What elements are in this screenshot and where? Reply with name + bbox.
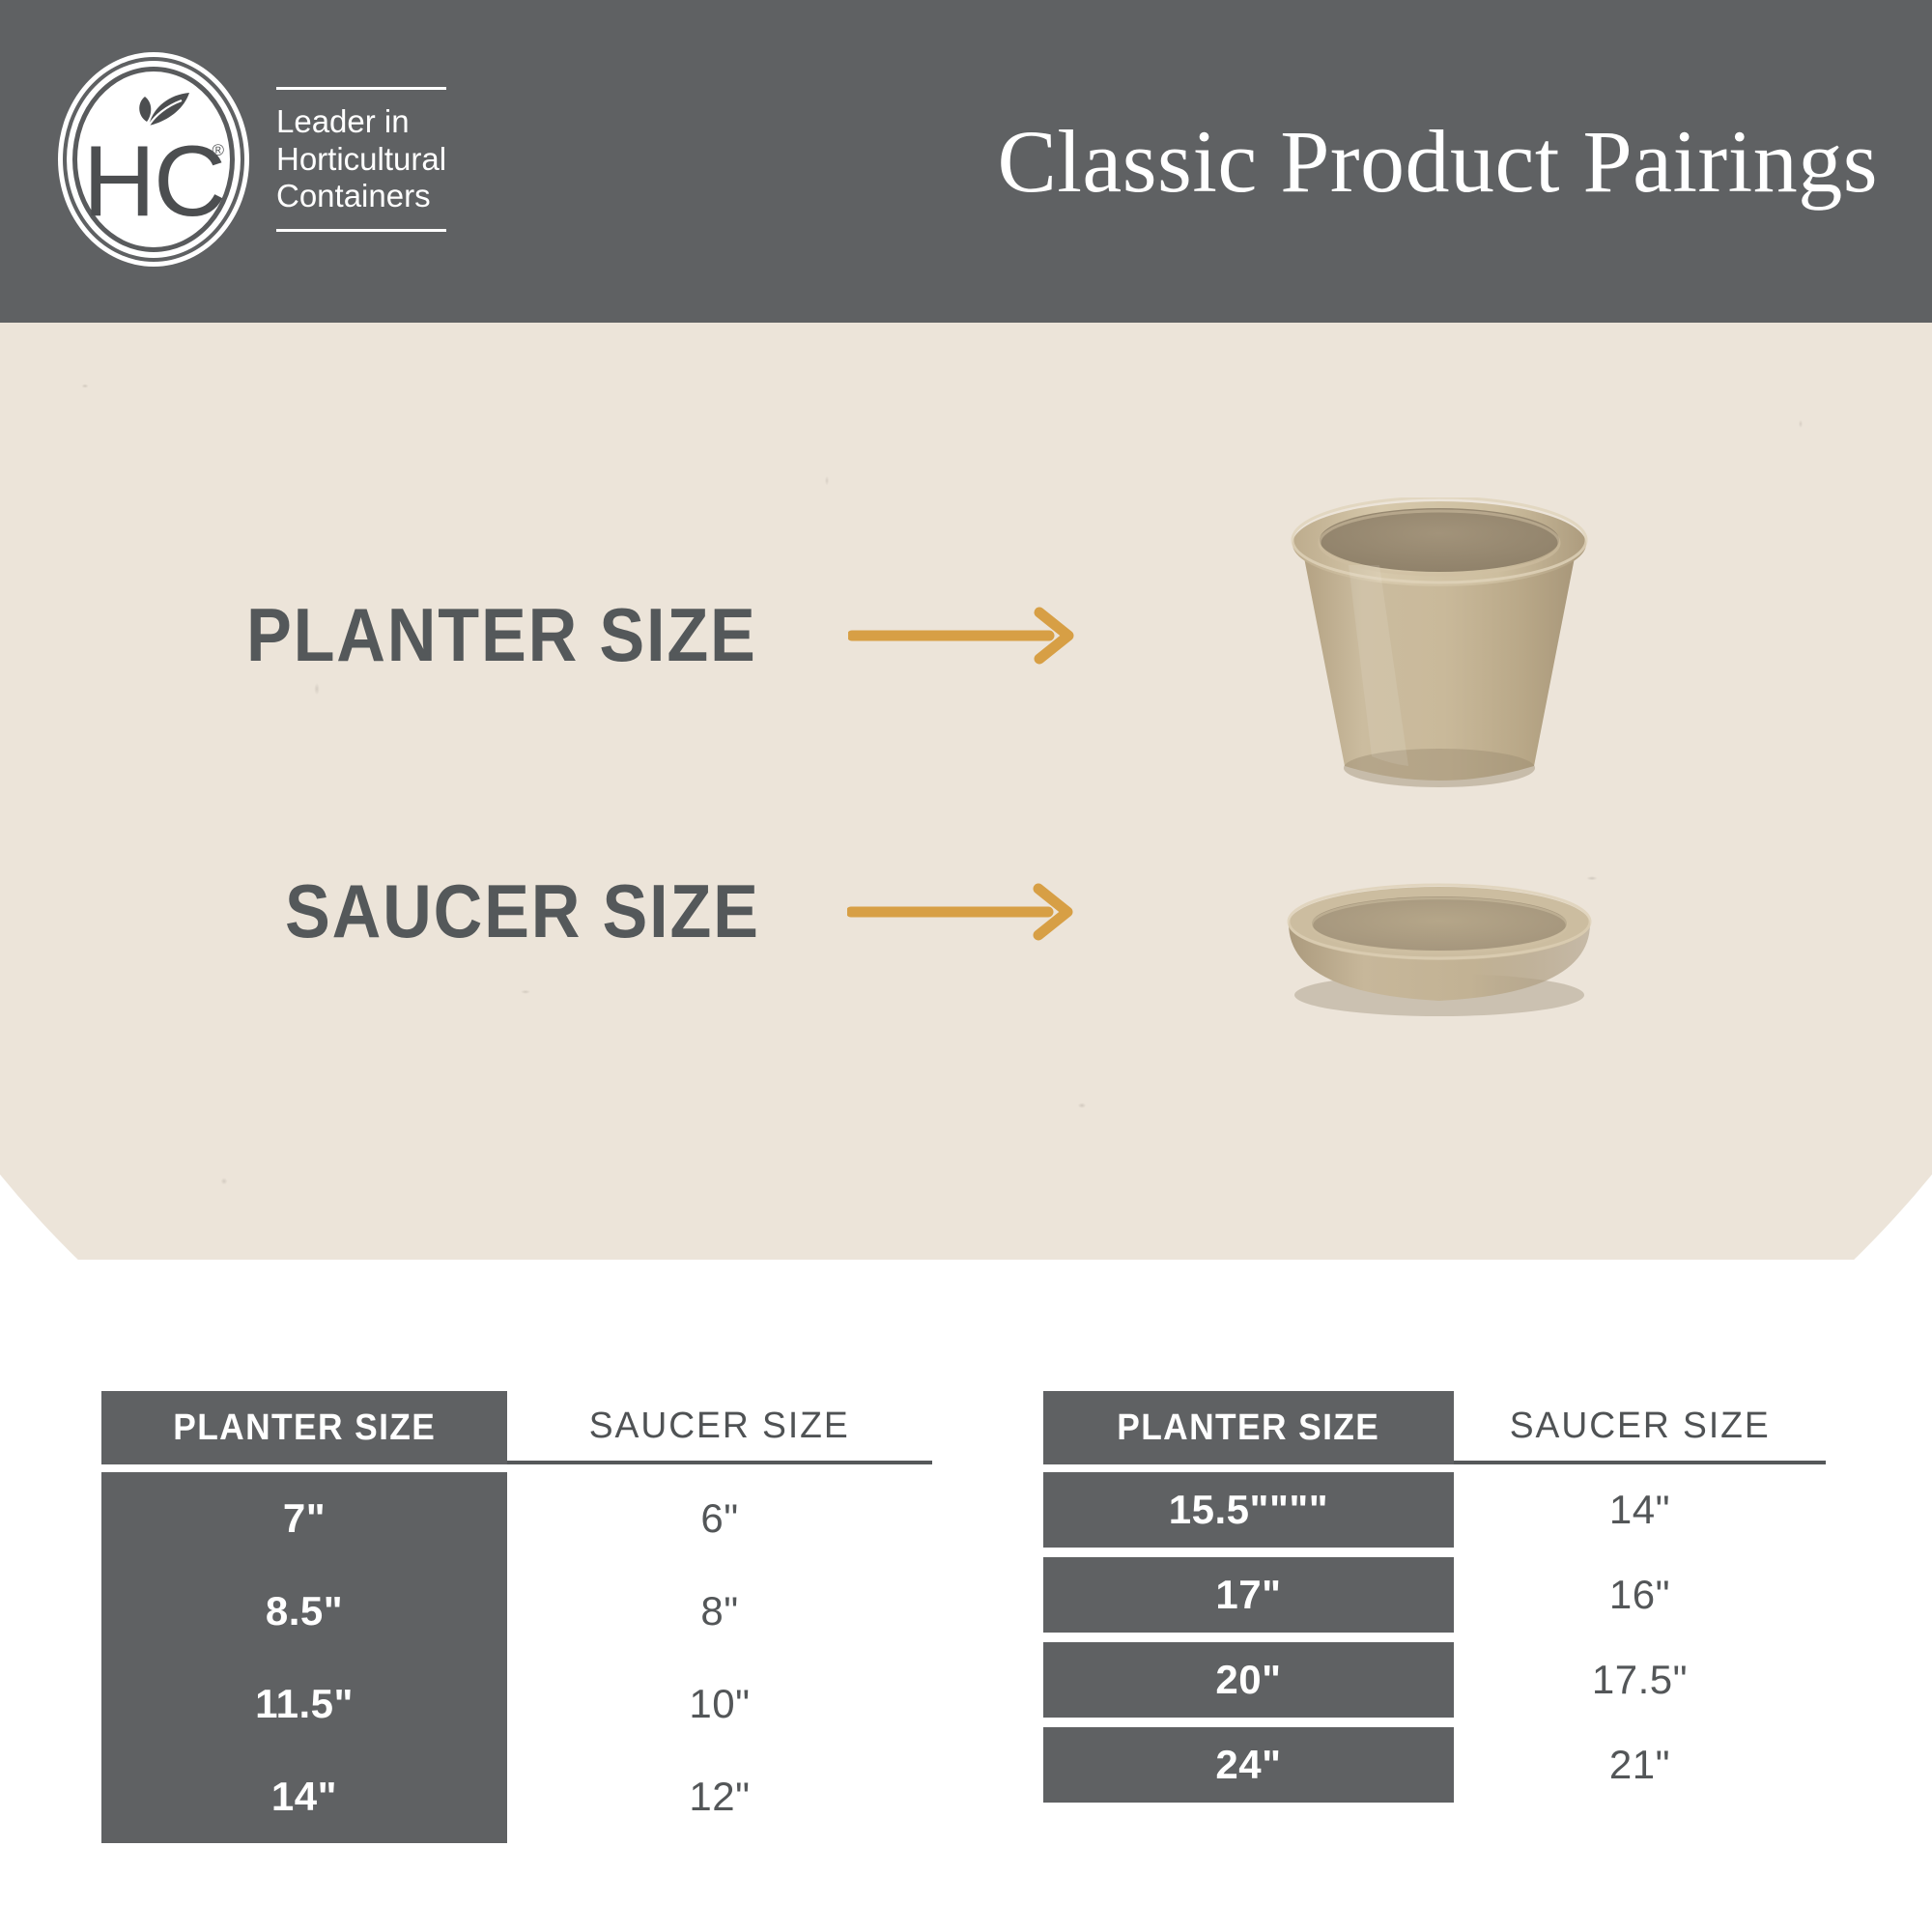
right-arrow-icon [847,877,1079,947]
page-title: Classic Product Pairings [997,0,1878,323]
size-table-left: PLANTER SIZE SAUCER SIZE 7" 6" 8.5" 8" 1… [101,1391,932,1843]
saucer-size-label: SAUCER SIZE [285,867,760,955]
right-arrow-icon [848,601,1080,670]
tagline-line-1: Leader in [276,103,446,141]
planter-image [1256,497,1623,816]
brand-logo: HC ® Leader in Horticultural Containers [58,48,560,270]
column-header-saucer-size: SAUCER SIZE [1454,1391,1826,1464]
column-header-planter-size: PLANTER SIZE [1043,1391,1454,1464]
column-header-saucer-size-label: SAUCER SIZE [1510,1406,1771,1447]
table-row: 15.5"""" 14" [1043,1472,1826,1548]
brand-tagline: Leader in Horticultural Containers [276,87,446,233]
cell-planter-size: 11.5" [101,1681,507,1727]
column-header-planter-size: PLANTER SIZE [101,1391,507,1464]
cell-saucer-size: 8" [507,1588,932,1634]
table-row: 8.5" 8" [101,1565,932,1658]
hero-section [0,323,1932,1260]
table-row: 11.5" 10" [101,1658,932,1750]
registered-trademark-icon: ® [212,141,224,160]
cell-planter-size: 17" [1043,1557,1454,1633]
table-row: 17" 16" [1043,1557,1826,1633]
cell-saucer-size: 17.5" [1454,1642,1826,1718]
table-row: 14" 12" [101,1750,932,1843]
cell-saucer-size: 6" [507,1495,932,1542]
cell-planter-size: 14" [101,1774,507,1820]
table-row: 24" 21" [1043,1727,1826,1803]
hero-row-saucer: SAUCER SIZE [285,867,1079,955]
table-header-row: PLANTER SIZE SAUCER SIZE [101,1391,932,1464]
table-row: 20" 17.5" [1043,1642,1826,1718]
column-header-saucer-size: SAUCER SIZE [507,1391,932,1464]
planter-size-label: PLANTER SIZE [246,591,757,679]
size-table-right: PLANTER SIZE SAUCER SIZE 15.5"""" 14" 17… [1043,1391,1826,1812]
cell-planter-size: 20" [1043,1642,1454,1718]
tagline-line-3: Containers [276,178,446,215]
saucer-image [1256,879,1623,1034]
cell-saucer-size: 12" [507,1774,932,1820]
hero-row-planter: PLANTER SIZE [246,591,1080,679]
cell-planter-size: 24" [1043,1727,1454,1803]
column-header-planter-size-label: PLANTER SIZE [173,1407,436,1449]
tagline-line-2: Horticultural [276,141,446,179]
table-header-row: PLANTER SIZE SAUCER SIZE [1043,1391,1826,1464]
column-header-planter-size-label: PLANTER SIZE [1118,1407,1380,1449]
table-body: 15.5"""" 14" 17" 16" 20" 17.5" 24" 21" [1043,1472,1826,1803]
table-body: 7" 6" 8.5" 8" 11.5" 10" 14" 12" [101,1472,932,1843]
cell-saucer-size: 10" [507,1681,932,1727]
cell-saucer-size: 14" [1454,1472,1826,1548]
cell-planter-size: 7" [101,1495,507,1542]
hc-logo-icon: HC ® [58,52,249,267]
page-header: HC ® Leader in Horticultural Containers … [0,0,1932,323]
cell-saucer-size: 16" [1454,1557,1826,1633]
cell-planter-size: 15.5"""" [1043,1472,1454,1548]
table-row: 7" 6" [101,1472,932,1565]
column-header-saucer-size-label: SAUCER SIZE [589,1406,850,1447]
cell-planter-size: 8.5" [101,1588,507,1634]
cell-saucer-size: 21" [1454,1727,1826,1803]
hero-texture [0,323,1932,1260]
